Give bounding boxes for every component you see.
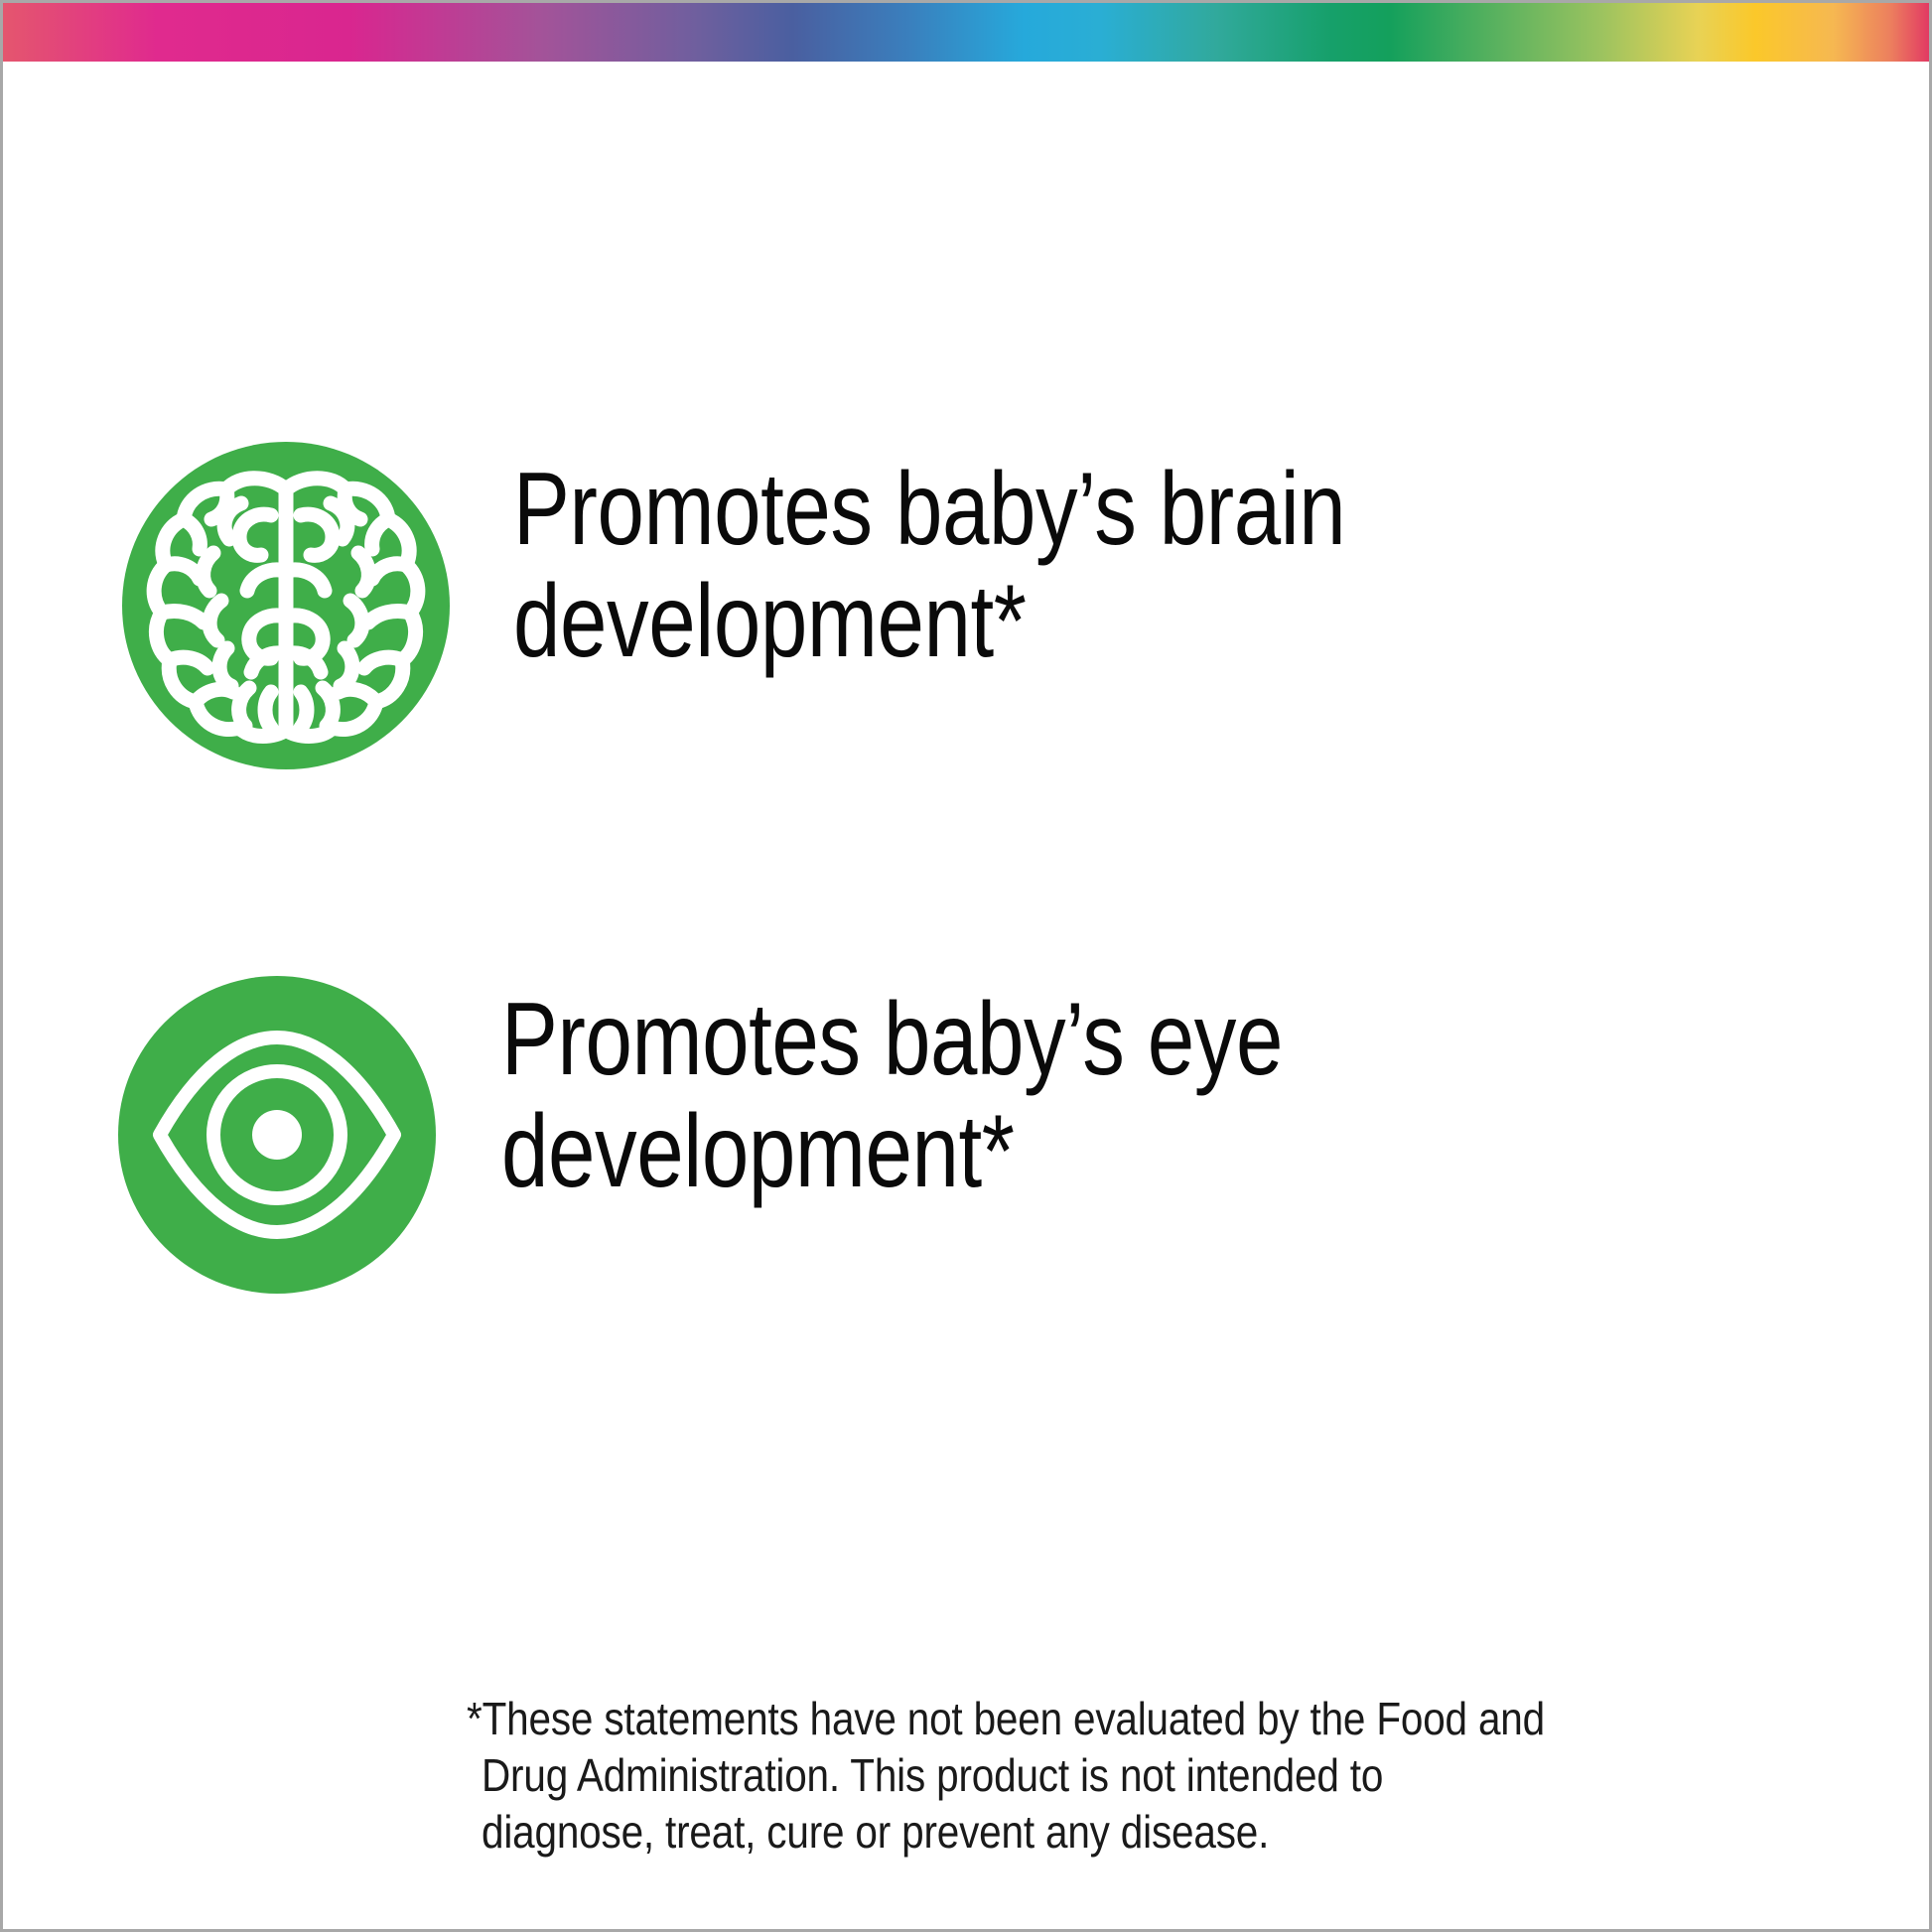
brain-icon [122,442,450,769]
benefit-label-brain: Promotes baby’s brain development* [513,454,1409,678]
product-benefits-panel: Promotes baby’s brain development* Promo… [0,0,1932,1932]
benefit-row-eye: Promotes baby’s eye development* [118,976,1593,1294]
rainbow-gradient-bar [3,3,1929,62]
benefit-label-eye: Promotes baby’s eye development* [501,984,1397,1208]
fda-disclaimer-footnote: *These statements have not been evaluate… [482,1691,1556,1861]
benefit-row-brain: Promotes baby’s brain development* [122,442,1605,769]
eye-icon [118,976,436,1294]
